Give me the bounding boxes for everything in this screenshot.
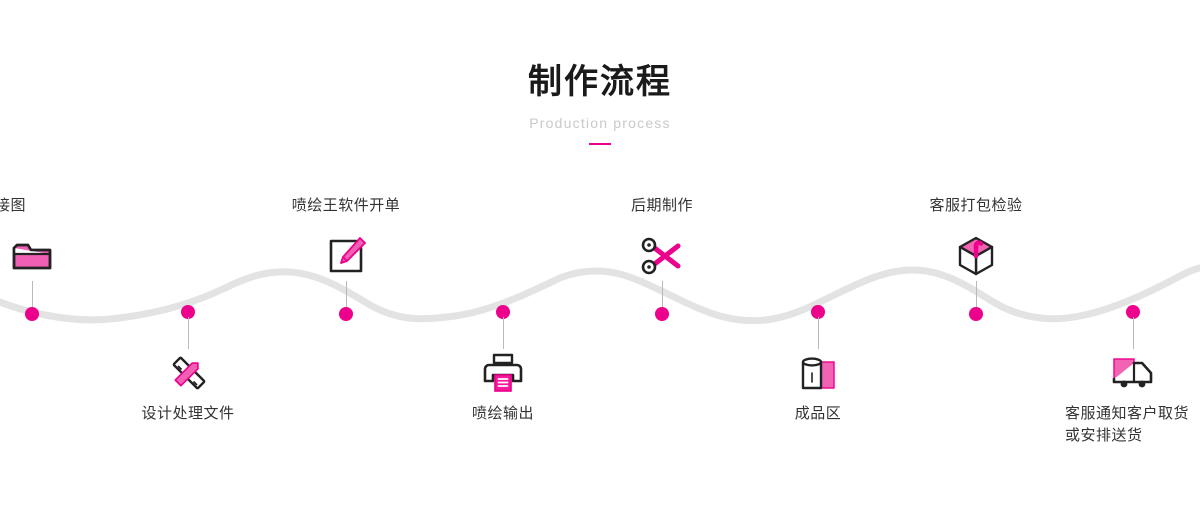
flow-step-7-label: 客服打包检验 [876, 195, 1076, 217]
flow-step-1-label: 客服接图 [0, 195, 164, 217]
folder-icon [8, 232, 56, 280]
flow-step-4-stem [503, 317, 504, 349]
flow-step-3-label: 喷绘王软件开单 [246, 195, 446, 217]
flow-step-3-dot[interactable] [339, 307, 353, 321]
flow-step-5-label: 后期制作 [562, 195, 762, 217]
flow-step-1-stem [32, 281, 33, 307]
flow-step-5-stem [662, 281, 663, 307]
flow-step-2-stem [188, 317, 189, 349]
paper-roll-icon [794, 349, 842, 397]
flow-step-6-label: 成品区 [718, 403, 918, 425]
process-flow-stage: 客服接图 [0, 0, 1200, 524]
flow-step-8-label: 客服通知客户取货 或安排送货 [1065, 403, 1200, 447]
flow-step-6-stem [818, 317, 819, 349]
flow-step-1-dot[interactable] [25, 307, 39, 321]
pencil-ruler-icon [164, 349, 212, 397]
flow-step-3-stem [346, 281, 347, 307]
flow-step-4-label: 喷绘输出 [403, 403, 603, 425]
box-icon [952, 232, 1000, 280]
edit-square-icon [322, 232, 370, 280]
flow-step-8-stem [1133, 317, 1134, 349]
flow-step-7-stem [976, 281, 977, 307]
scissors-icon [638, 232, 686, 280]
printer-icon [479, 349, 527, 397]
delivery-truck-icon [1109, 349, 1157, 397]
flow-step-2-label: 设计处理文件 [88, 403, 288, 425]
flow-step-5-dot[interactable] [655, 307, 669, 321]
wave-path [0, 0, 1200, 524]
flow-step-7-dot[interactable] [969, 307, 983, 321]
